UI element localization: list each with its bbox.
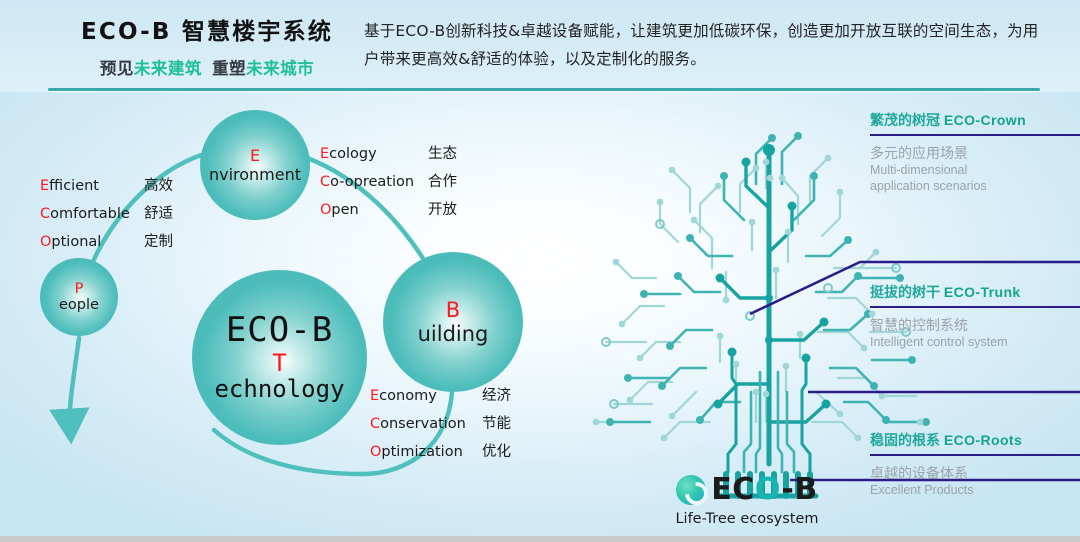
people-item-2-en: Optional [40,228,144,256]
build-item-1-cap: C [370,416,380,432]
bubble-eco-b-technology[interactable]: ECO-B Technology [192,270,367,445]
build-item-1-en: Conservation [370,410,482,438]
core-subtitle-rest: echnology [214,377,344,403]
subtitle-part-1: 预见 [100,60,134,78]
core-subtitle: Technology [214,351,344,403]
callout-crown-heading: 繁茂的树冠 ECO-Crown [870,110,1080,130]
env-item-2-cap: O [320,202,331,218]
page-subtitle: 预见未来建筑 重塑未来城市 [62,55,352,79]
eco-b-logo: ECO-B Life-Tree ecosystem [632,472,862,527]
build-item-2-cn: 优化 [482,438,511,466]
people-item-0-cap: E [40,178,49,194]
env-item-0-cap: E [320,146,329,162]
callout-crown-sub-cn: 多元的应用场景 [870,145,1080,162]
people-item-2-rest: ptional [51,234,101,250]
bubble-environment-label: Environment [209,146,301,184]
bubble-environment[interactable]: Environment [200,110,310,220]
build-item-1-rest: onservation [380,416,466,432]
bubble-people-label: People [59,281,99,313]
callout-crown-sub-en-2: application scenarios [870,178,1080,194]
bubble-building[interactable]: Building [383,252,523,392]
bubble-people-rest: eople [59,297,99,313]
callout-trunk-sub-en-1: Intelligent control system [870,334,1080,350]
header-banner: ECO-B 智慧楼宇系统 预见未来建筑 重塑未来城市 基于ECO-B创新科技&卓… [0,0,1080,92]
bubble-environment-cap: E [209,146,301,165]
build-item-0-cn: 经济 [482,382,511,410]
callout-trunk-sub-cn: 智慧的控制系统 [870,317,1080,334]
list-item: Efficient 高效 [40,172,173,200]
callout-roots-heading: 稳固的根系 ECO-Roots [870,430,1080,450]
logo-text-o: O [755,472,782,507]
list-item: Comfortable 舒适 [40,200,173,228]
callout-crown-heading-cn: 繁茂的树冠 [870,112,940,128]
callout-eco-roots[interactable]: 稳固的根系 ECO-Roots 卓越的设备体系 Excellent Produc… [870,430,1080,498]
people-item-2-cap: O [40,234,51,250]
people-item-2-cn: 定制 [144,228,173,256]
eco-b-leaf-icon [676,475,706,505]
building-attribute-list: Economy 经济 Conservation 节能 Optimization … [370,382,511,466]
env-item-1-cap: C [320,174,330,190]
callout-crown-sub-en-1: Multi-dimensional [870,162,1080,178]
callout-crown-heading-en: ECO-Crown [944,112,1026,128]
callout-roots-sub-cn: 卓越的设备体系 [870,465,1080,482]
core-title: ECO-B [226,312,333,349]
people-item-1-cn: 舒适 [144,200,173,228]
people-item-1-rest: omfortable [50,206,130,222]
people-item-1-cap: C [40,206,50,222]
people-item-1-en: Comfortable [40,200,144,228]
bubble-building-cap: B [418,298,489,322]
logo-text-pre: EC [711,472,755,507]
list-item: Open 开放 [320,196,457,224]
logo-row: ECO-B [632,472,862,507]
callout-eco-trunk[interactable]: 挺拔的树干 ECO-Trunk 智慧的控制系统 Intelligent cont… [870,282,1080,350]
env-item-1-cn: 合作 [428,168,457,196]
env-item-2-cn: 开放 [428,196,457,224]
callout-eco-crown[interactable]: 繁茂的树冠 ECO-Crown 多元的应用场景 Multi-dimensiona… [870,110,1080,194]
callout-trunk-rule [870,306,1080,308]
logo-wordmark: ECO-B [711,472,817,507]
people-item-0-cn: 高效 [144,172,173,200]
list-item: Conservation 节能 [370,410,511,438]
build-item-1-cn: 节能 [482,410,511,438]
callout-crown-rule [870,134,1080,136]
bubble-building-rest: uilding [418,322,489,346]
env-item-2-en: Open [320,196,428,224]
people-item-0-rest: fficient [49,178,99,194]
people-attribute-list: Efficient 高效 Comfortable 舒适 Optional 定制 [40,172,173,256]
build-item-2-cap: O [370,444,381,460]
build-item-0-en: Economy [370,382,482,410]
people-item-0-en: Efficient [40,172,144,200]
bubble-building-label: Building [418,298,489,346]
subtitle-part-4: 未来城市 [246,60,314,78]
core-subtitle-cap: T [214,351,344,377]
page-title: ECO-B 智慧楼宇系统 [62,12,352,46]
build-item-0-rest: conomy [379,388,437,404]
build-item-0-cap: E [370,388,379,404]
bubble-people[interactable]: People [40,258,118,336]
subtitle-part-3: 重塑 [212,60,246,78]
list-item: Optimization 优化 [370,438,511,466]
env-item-1-en: Co-opreation [320,168,428,196]
bubble-environment-rest: nvironment [209,165,301,184]
list-item: Economy 经济 [370,382,511,410]
build-item-2-rest: ptimization [381,444,462,460]
env-item-1-rest: o-opreation [330,174,414,190]
environment-attribute-list: Ecology 生态 Co-opreation 合作 Open 开放 [320,140,457,224]
logo-tagline: Life-Tree ecosystem [632,511,862,527]
logo-text-post: -B [781,472,817,507]
callout-trunk-heading-cn: 挺拔的树干 [870,284,940,300]
header-description: 基于ECO-B创新科技&卓越设备赋能，让建筑更加低碳环保，创造更加开放互联的空间… [364,17,1054,73]
list-item: Optional 定制 [40,228,173,256]
env-item-2-rest: pen [331,202,358,218]
life-tree-ecosystem-diagram: 繁茂的树冠 ECO-Crown 多元的应用场景 Multi-dimensiona… [560,92,1080,542]
header-divider [48,88,1040,91]
callout-trunk-heading: 挺拔的树干 ECO-Trunk [870,282,1080,302]
title-block: ECO-B 智慧楼宇系统 预见未来建筑 重塑未来城市 [62,12,352,79]
bubble-people-cap: P [59,281,99,297]
build-item-2-en: Optimization [370,438,482,466]
bottom-edge-bar [0,536,1080,542]
subtitle-part-2: 未来建筑 [134,60,202,78]
list-item: Ecology 生态 [320,140,457,168]
list-item: Co-opreation 合作 [320,168,457,196]
env-item-0-rest: cology [329,146,377,162]
callout-roots-sub-en-1: Excellent Products [870,482,1080,498]
env-item-0-en: Ecology [320,140,428,168]
eco-b-technology-diagram: People Environment ECO-B Technology Buil… [0,92,560,542]
env-item-0-cn: 生态 [428,140,457,168]
callout-trunk-heading-en: ECO-Trunk [944,284,1021,300]
callout-roots-rule [870,454,1080,456]
callout-roots-heading-en: ECO-Roots [944,432,1022,448]
callout-roots-heading-cn: 稳固的根系 [870,432,940,448]
infographic-canvas: ECO-B 智慧楼宇系统 预见未来建筑 重塑未来城市 基于ECO-B创新科技&卓… [0,0,1080,542]
